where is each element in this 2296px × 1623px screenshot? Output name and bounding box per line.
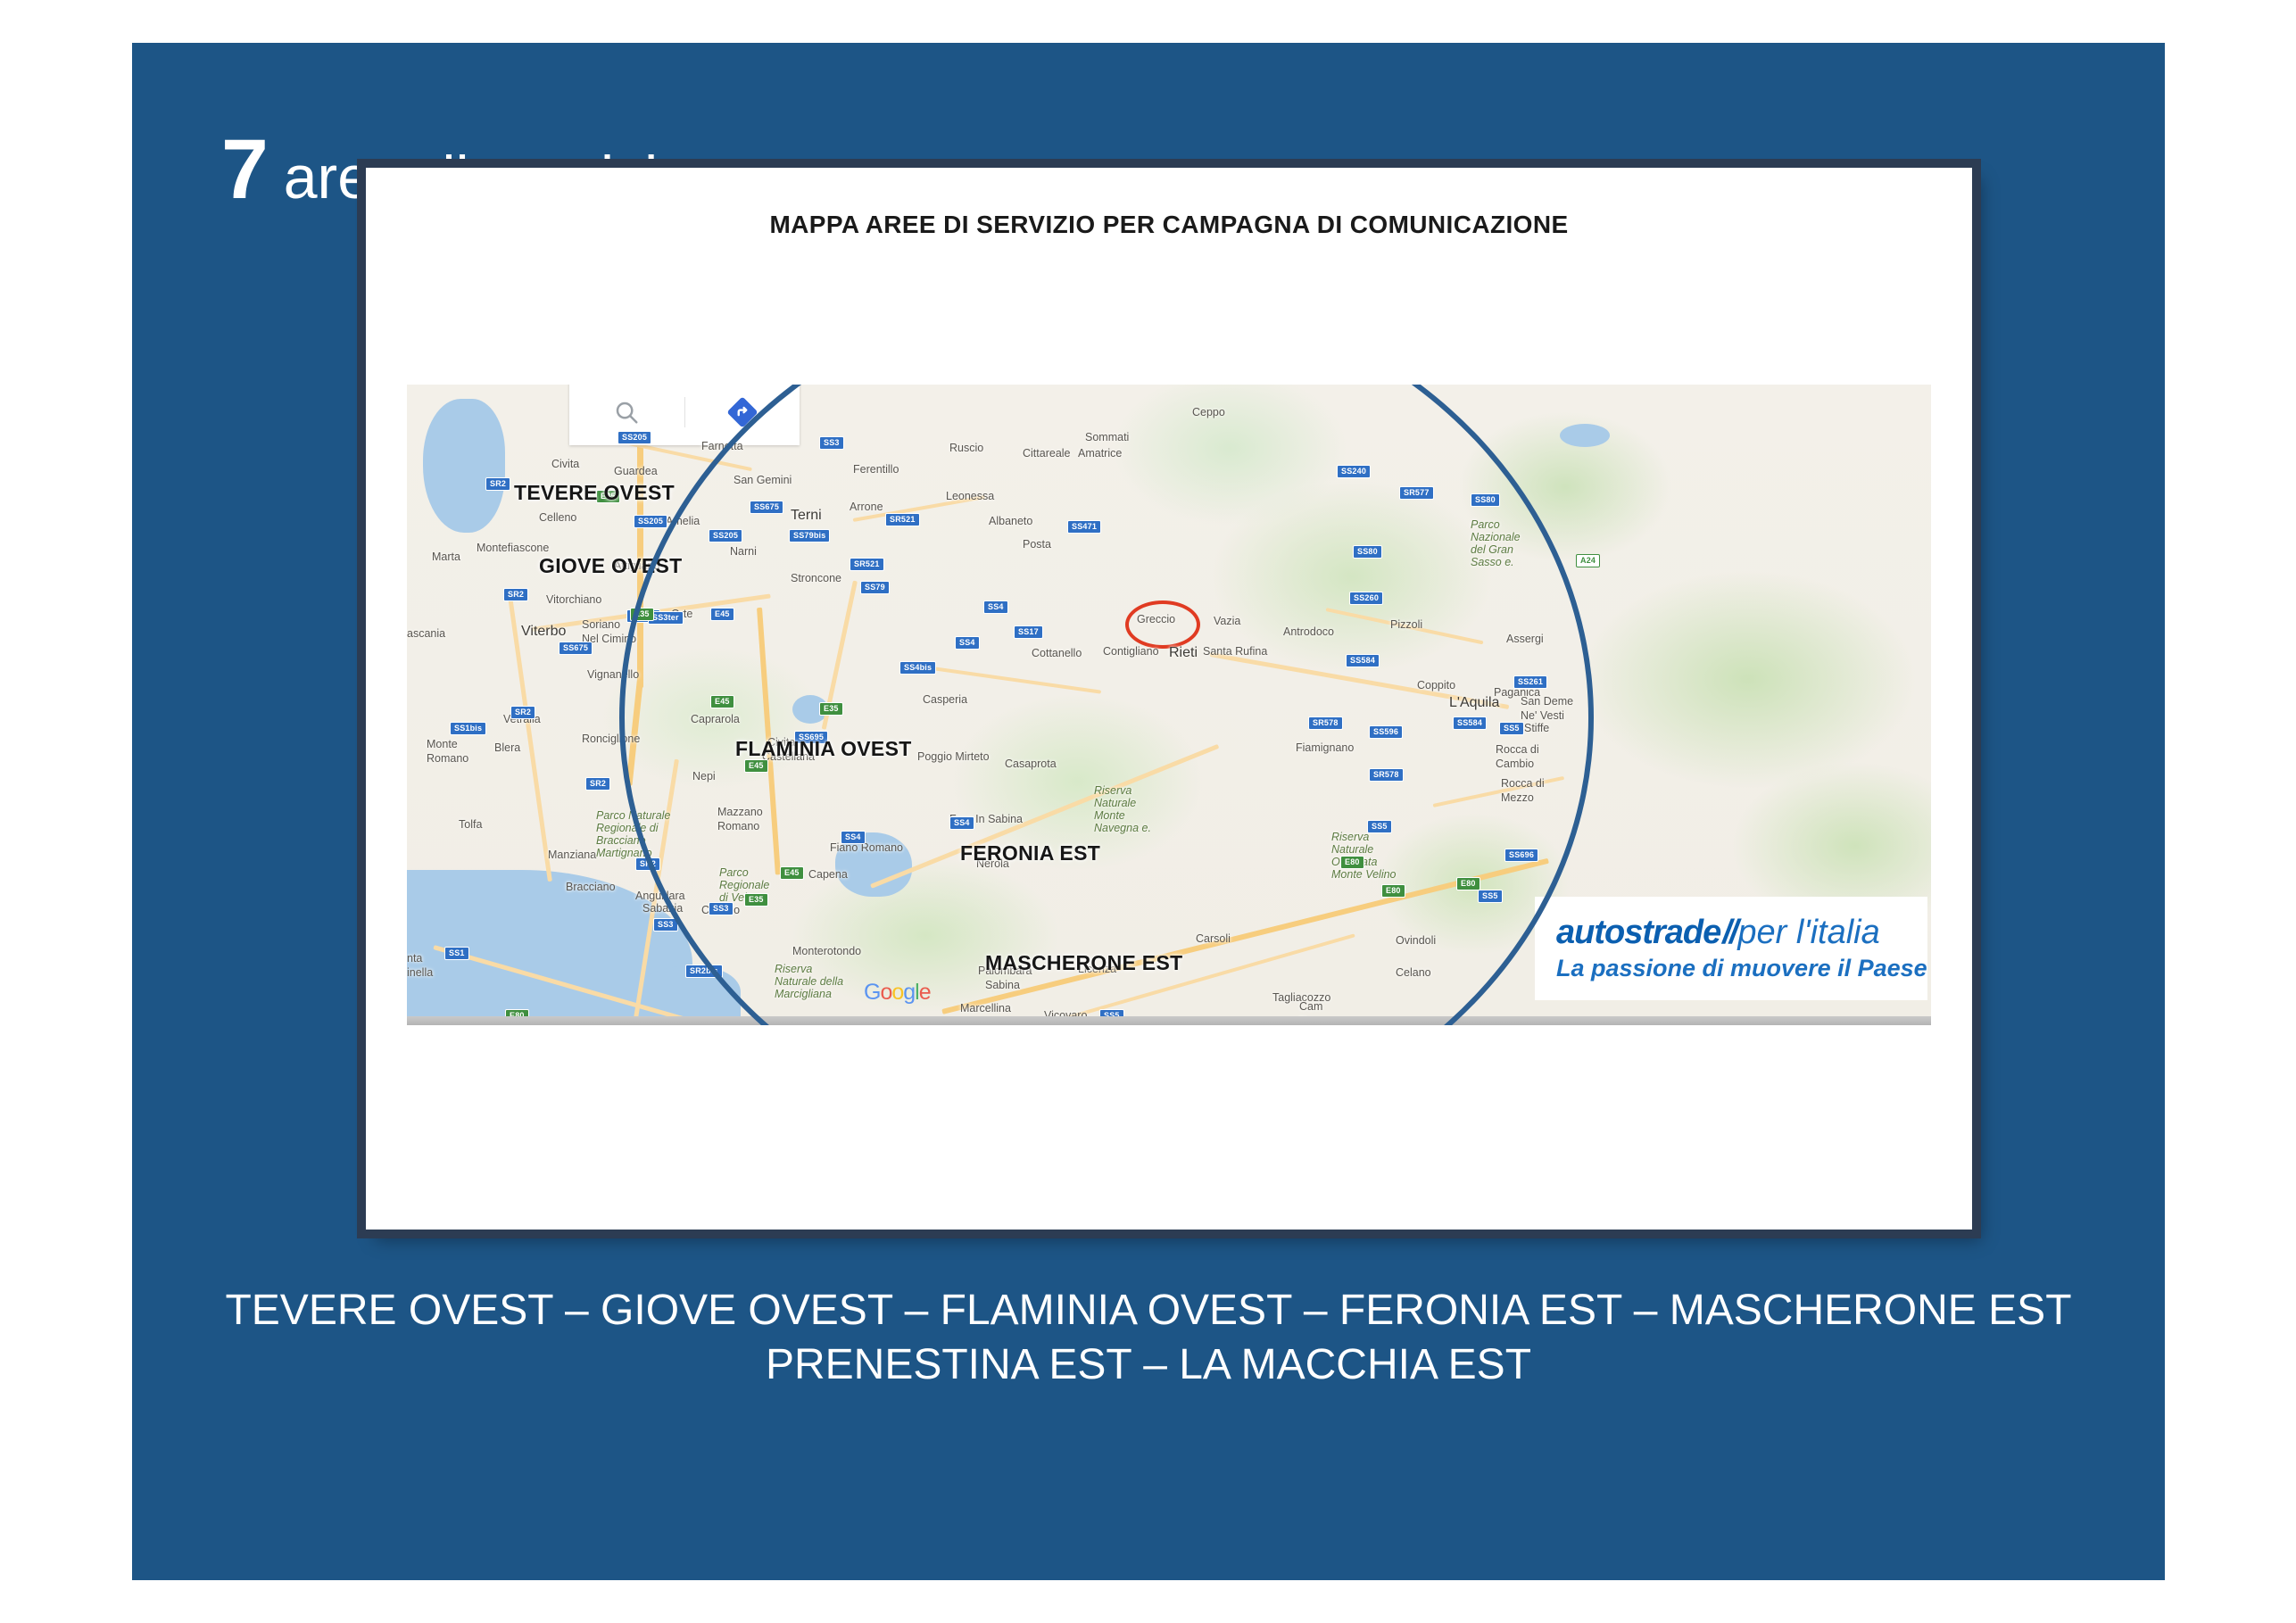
road-shield: SR2 (503, 588, 528, 601)
place-label: Vitorchiano (546, 593, 601, 606)
place-label: Mezzo (1501, 791, 1534, 804)
road-shield: SS5 (1367, 820, 1392, 833)
road-shield: SS5 (1478, 890, 1503, 903)
road-shield: A24 (1576, 554, 1600, 567)
google-letter-o2: o (891, 980, 903, 1005)
park-label: ParcoNazionaledel GranSasso e. (1471, 518, 1521, 568)
place-label: Vignanello (587, 668, 639, 681)
logo-bars-icon: // (1722, 914, 1736, 951)
place-label: ascania (407, 627, 445, 640)
lake-campotosto (1560, 424, 1610, 447)
road-shield: SS4bis (899, 661, 936, 675)
park-label: RiservaNaturale dellaMarcigliana (775, 963, 843, 1000)
place-label: Amelia (666, 515, 700, 527)
road-shield: SS471 (1067, 520, 1101, 534)
place-label: Contigliano (1103, 645, 1159, 658)
road-shield: E45 (710, 695, 734, 708)
lake-bolsena (423, 399, 505, 533)
road-shield: SS3 (819, 436, 844, 450)
road-shield: SR2 (635, 857, 660, 871)
place-label: Celano (1396, 966, 1431, 979)
place-label: Sabazia (642, 902, 683, 915)
road-shield: SS205 (709, 529, 742, 542)
park-label: Parco NaturaleRegionale diBraccianoMarti… (596, 809, 670, 859)
road-shield: E35 (819, 702, 843, 716)
place-label: Civita (551, 458, 579, 470)
place-label: Cambio (1496, 758, 1534, 770)
place-label: Cam (1299, 1000, 1322, 1013)
place-label: Bracciano (566, 881, 616, 893)
place-label: Ceppo (1192, 406, 1225, 418)
place-label: Tolfa (459, 818, 482, 831)
service-area-label: FLAMINIA OVEST (735, 737, 912, 761)
place-label: Caprarola (691, 713, 740, 725)
google-watermark: Google (864, 980, 931, 1006)
road-shield: SS4 (955, 636, 980, 650)
road-shield: SS4 (841, 831, 866, 844)
place-label: Monterotondo (792, 945, 861, 957)
road-shield: E45 (744, 759, 768, 773)
road-shield: SS584 (1346, 654, 1380, 667)
logo-wordmark: autostrade//per l'italia (1556, 915, 1927, 949)
road-shield: E35 (630, 608, 654, 621)
place-label: Terni (791, 508, 822, 524)
place-label: Cottanello (1032, 647, 1082, 659)
service-areas-caption: TEVERE OVEST – GIOVE OVEST – FLAMINIA OV… (132, 1283, 2165, 1393)
road-shield: SR521 (850, 558, 884, 571)
place-label: Romano (717, 820, 759, 832)
road-shield: E45 (710, 608, 734, 621)
place-label: Nepi (692, 770, 716, 783)
road-shield: SS3 (709, 902, 734, 915)
place-label: Capena (808, 868, 848, 881)
map-search-bar[interactable] (569, 385, 800, 445)
road-shield: SR2bis (685, 965, 723, 978)
road-shield: SS5 (1499, 722, 1524, 735)
place-label: San Gemini (734, 474, 792, 486)
road-shield: SS17 (1014, 625, 1043, 639)
place-label: Montefiascone (477, 542, 549, 554)
map-bottom-bar (407, 1016, 1931, 1025)
logo-suffix: per l'italia (1737, 914, 1879, 951)
map-heading: MAPPA AREE DI SERVIZIO PER CAMPAGNA DI C… (366, 211, 1972, 239)
place-label: Ne' Vesti (1521, 709, 1564, 722)
place-label: Marta (432, 551, 460, 563)
place-label: Ruscio (949, 442, 983, 454)
search-icon[interactable] (569, 399, 684, 426)
place-label: Antrodoco (1283, 625, 1334, 638)
road-shield: SS79 (860, 581, 890, 594)
road-shield: SS205 (634, 515, 667, 528)
place-label: Coppito (1417, 679, 1455, 691)
place-label: Santa Rufina (1203, 645, 1267, 658)
road-shield: SS4 (983, 600, 1008, 614)
place-label: Carsoli (1196, 932, 1231, 945)
place-label: Ovindoli (1396, 934, 1436, 947)
place-label: Pizzoli (1390, 618, 1422, 631)
park-label: RiservaNaturaleMonteNavegna e. (1094, 784, 1151, 834)
logo-tagline: La passione di muovere il Paese (1556, 955, 1927, 982)
place-label: Celleno (539, 511, 576, 524)
road-shield: E35 (744, 893, 768, 907)
road-shield: SS80 (1353, 545, 1382, 559)
caption-line-2: PRENESTINA EST – LA MACCHIA EST (132, 1337, 2165, 1392)
place-label: Amatrice (1078, 447, 1122, 460)
road-shield: SS261 (1513, 675, 1547, 689)
road-shield: SS675 (750, 501, 783, 514)
place-label: Sabina (985, 979, 1020, 991)
road-shield: SS79bis (789, 529, 830, 542)
place-label: Posta (1023, 538, 1051, 551)
road-shield: SR2 (510, 706, 535, 719)
place-label: Soriano (582, 618, 620, 631)
place-label: Farnetta (701, 440, 743, 452)
map-panel: MAPPA AREE DI SERVIZIO PER CAMPAGNA DI C… (366, 168, 1972, 1230)
road-shield: SS584 (1453, 716, 1487, 730)
road-shield: SS3 (653, 918, 678, 932)
place-label: Viterbo (521, 624, 566, 640)
place-label: Poggio Mirteto (917, 750, 990, 763)
place-label: Anguillara (635, 890, 685, 902)
place-label: Stiffe (1524, 722, 1549, 734)
google-letter-e: e (919, 980, 931, 1005)
place-label: Assergi (1506, 633, 1544, 645)
service-area-label: GIOVE OVEST (539, 554, 683, 578)
autostrade-logo: autostrade//per l'italia La passione di … (1535, 897, 1927, 1000)
road-shield: SS80 (1471, 493, 1500, 507)
caption-line-1: TEVERE OVEST – GIOVE OVEST – FLAMINIA OV… (132, 1283, 2165, 1337)
place-label: Fiamignano (1296, 741, 1354, 754)
place-label: Casperia (923, 693, 967, 706)
place-label: Manziana (548, 849, 596, 861)
place-label: Rieti (1169, 645, 1198, 661)
road-shield: SR2 (485, 477, 510, 491)
place-label: Cittareale (1023, 447, 1071, 460)
map-image[interactable]: MartaMontefiasconeCellenoCivitaGuardeaFa… (407, 385, 1931, 1025)
place-label: Casaprota (1005, 758, 1057, 770)
service-area-label: TEVERE OVEST (514, 481, 675, 505)
place-label: Rocca di (1496, 743, 1539, 756)
place-label: Romano (427, 752, 468, 765)
directions-icon[interactable] (685, 397, 800, 427)
road-shield: SR578 (1308, 716, 1343, 730)
service-area-label: FERONIA EST (960, 841, 1100, 865)
road-shield: SS596 (1369, 725, 1403, 739)
road-shield: SS240 (1337, 465, 1371, 478)
road-shield: SR2 (585, 777, 610, 791)
road-shield: E80 (1381, 884, 1405, 898)
slide-canvas: 7 aree di servizio (maxi affissioni – ca… (132, 43, 2165, 1580)
road-shield: SS260 (1349, 592, 1383, 605)
logo-brand: autostrade (1556, 914, 1720, 951)
service-area-label: MASCHERONE EST (985, 951, 1182, 975)
place-label: San Deme (1521, 695, 1573, 708)
place-label: Arrone (850, 501, 883, 513)
road-shield: E45 (780, 866, 804, 880)
place-label: Sommati (1085, 431, 1129, 443)
road-shield: SR521 (885, 513, 920, 526)
road-shield: SS1bis (450, 722, 486, 735)
place-label: Narni (730, 545, 757, 558)
place-label: Guardea (614, 465, 658, 477)
google-letter-g2: g (903, 980, 915, 1005)
place-label: Vazia (1214, 615, 1240, 627)
google-letter-o1: o (880, 980, 891, 1005)
place-label: inella (407, 966, 433, 979)
road-shield: SS675 (559, 642, 593, 655)
road-shield: SS4 (949, 816, 974, 830)
place-label: Monte (427, 738, 458, 750)
place-label: Marcellina (960, 1002, 1011, 1014)
place-label: Mazzano (717, 806, 763, 818)
google-letter-g: G (864, 980, 880, 1005)
place-label: nta (407, 952, 422, 965)
place-label: Rocca di (1501, 777, 1545, 790)
road-shield: SS696 (1504, 849, 1538, 862)
title-number: 7 (221, 122, 267, 217)
place-label: Ferentillo (853, 463, 899, 476)
road-shield: SS1 (444, 947, 469, 960)
road-shield: SS205 (618, 431, 651, 444)
place-label: Stroncone (791, 572, 841, 584)
place-label: Greccio (1137, 613, 1175, 625)
place-label: Leonessa (946, 490, 994, 502)
road-shield: SR577 (1399, 486, 1434, 500)
place-label: Blera (494, 741, 520, 754)
road-shield: E80 (1456, 877, 1480, 890)
place-label: Ronciglione (582, 733, 640, 745)
road-shield: E80 (1340, 856, 1364, 869)
place-label: L'Aquila (1449, 695, 1499, 711)
road-shield: SR578 (1369, 768, 1404, 782)
place-label: Albaneto (989, 515, 1032, 527)
